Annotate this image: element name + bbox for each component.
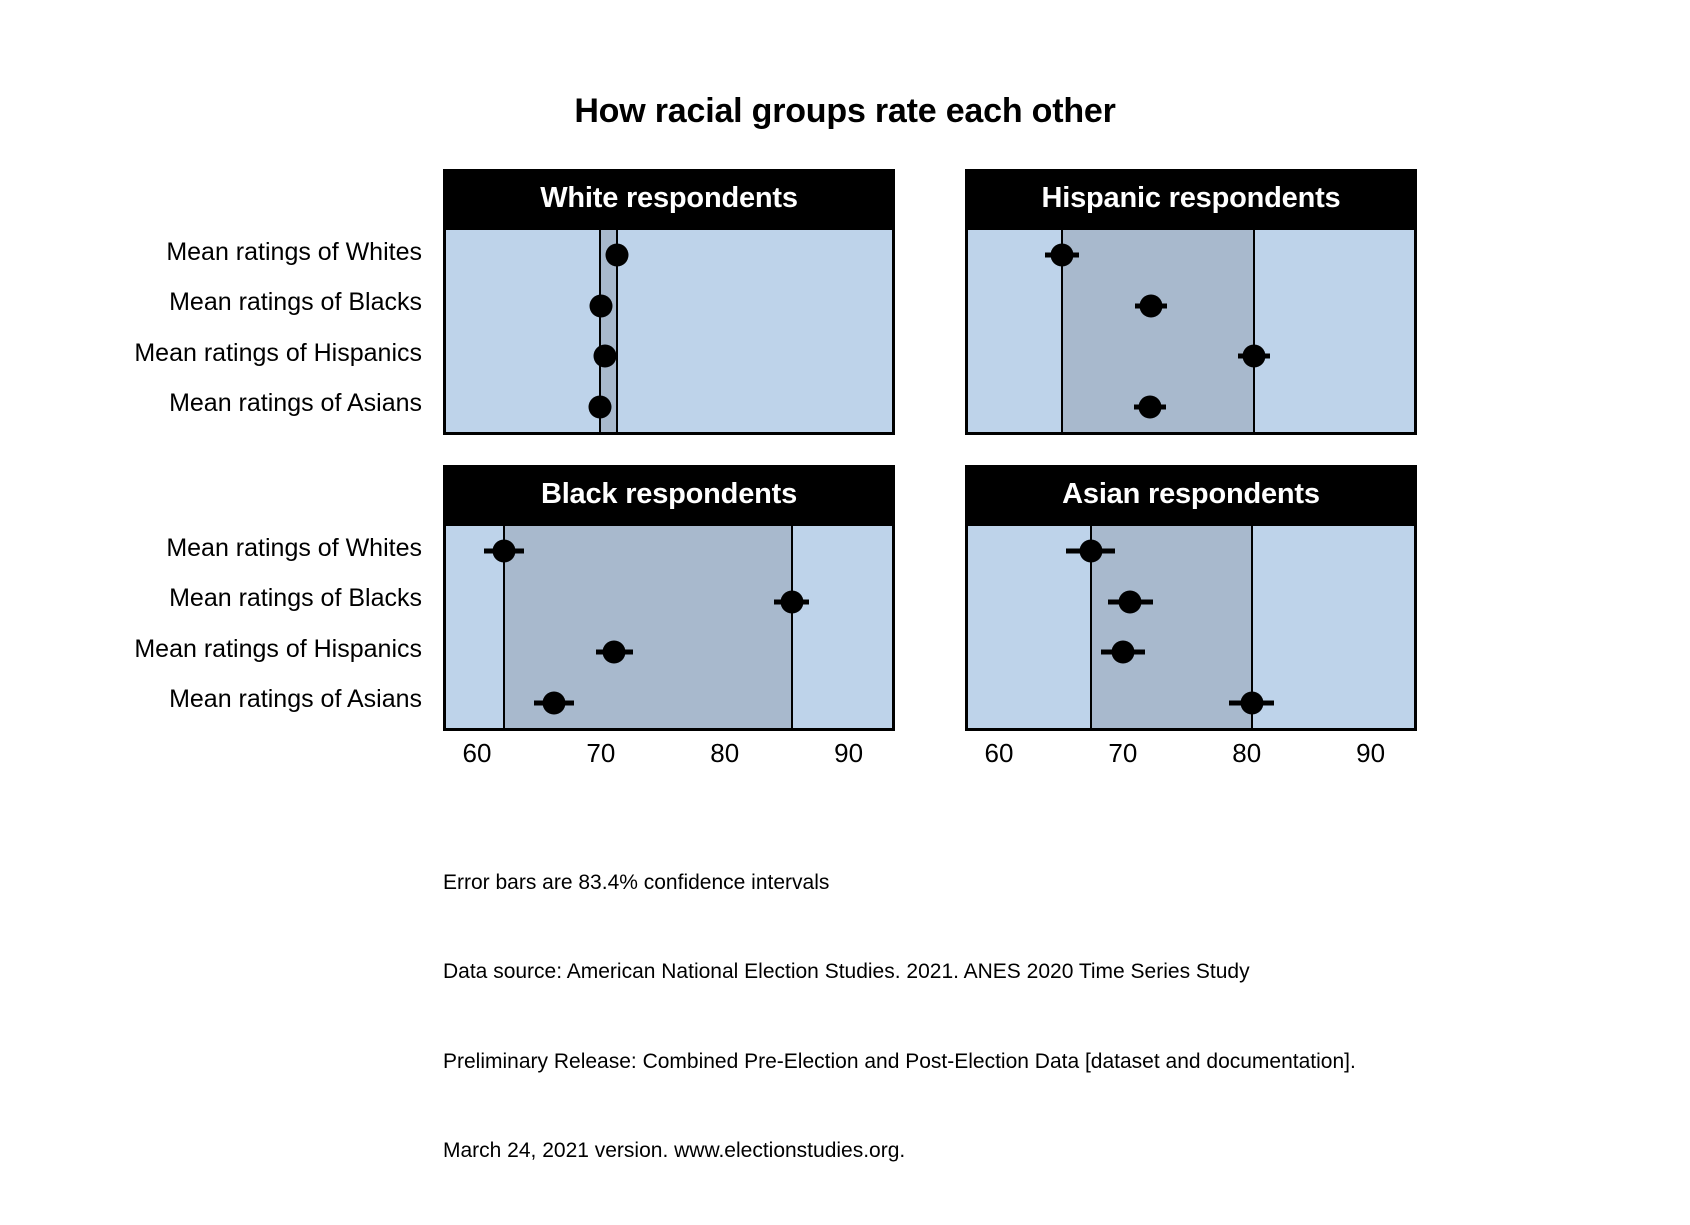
x-axis-tick-label: 60 bbox=[985, 738, 1014, 769]
data-point bbox=[780, 590, 803, 613]
data-point bbox=[493, 540, 516, 563]
panel-plot-area-3 bbox=[965, 523, 1417, 731]
footer-line-2: Data source: American National Election … bbox=[443, 957, 1356, 987]
panel-strip-0: White respondents bbox=[443, 169, 895, 227]
panel-strip-3: Asian respondents bbox=[965, 465, 1417, 523]
panel-plot-area-2 bbox=[443, 523, 895, 731]
data-row bbox=[968, 627, 1414, 678]
panel-top-right: Hispanic respondents bbox=[965, 169, 1417, 435]
data-point bbox=[603, 641, 626, 664]
panel-bottom-left: Black respondents bbox=[443, 465, 895, 731]
y-axis-label: Mean ratings of Hispanics bbox=[134, 328, 422, 379]
data-row bbox=[968, 382, 1414, 433]
data-point bbox=[1240, 691, 1263, 714]
x-axis-tick-label: 80 bbox=[710, 738, 739, 769]
data-point bbox=[605, 244, 628, 267]
data-point bbox=[542, 691, 565, 714]
footer-line-4: March 24, 2021 version. www.electionstud… bbox=[443, 1136, 1356, 1166]
page-title: How racial groups rate each other bbox=[0, 92, 1690, 131]
y-axis-label: Mean ratings of Asians bbox=[169, 379, 422, 430]
y-axis-label: Mean ratings of Whites bbox=[166, 523, 422, 574]
y-axis-label: Mean ratings of Hispanics bbox=[134, 624, 422, 675]
data-point bbox=[589, 294, 612, 317]
data-row bbox=[446, 526, 892, 577]
panel-bottom-right: Asian respondents bbox=[965, 465, 1417, 731]
y-axis-label: Mean ratings of Blacks bbox=[169, 278, 422, 329]
y-axis-label: Mean ratings of Asians bbox=[169, 675, 422, 726]
x-axis-right: 60708090 bbox=[965, 738, 1417, 782]
x-axis-tick-label: 90 bbox=[834, 738, 863, 769]
data-point bbox=[1079, 540, 1102, 563]
data-row bbox=[968, 678, 1414, 729]
data-point bbox=[1111, 641, 1134, 664]
panel-strip-1: Hispanic respondents bbox=[965, 169, 1417, 227]
panel-top-left: White respondents bbox=[443, 169, 895, 435]
data-row bbox=[968, 281, 1414, 332]
panel-strip-label: White respondents bbox=[540, 184, 798, 213]
data-row bbox=[446, 678, 892, 729]
x-axis-tick-label: 70 bbox=[586, 738, 615, 769]
data-point bbox=[1119, 590, 1142, 613]
y-axis-label: Mean ratings of Blacks bbox=[169, 574, 422, 625]
x-axis-tick-label: 70 bbox=[1108, 738, 1137, 769]
data-row bbox=[446, 230, 892, 281]
x-axis-tick-label: 80 bbox=[1232, 738, 1261, 769]
chart-figure: How racial groups rate each other Mean r… bbox=[0, 0, 1690, 1086]
data-row bbox=[968, 526, 1414, 577]
panel-plot-area-0 bbox=[443, 227, 895, 435]
x-axis-left: 60708090 bbox=[443, 738, 895, 782]
data-point bbox=[1243, 345, 1266, 368]
data-row bbox=[446, 281, 892, 332]
data-point bbox=[1139, 395, 1162, 418]
footer-line-1: Error bars are 83.4% confidence interval… bbox=[443, 868, 1356, 898]
data-row bbox=[446, 382, 892, 433]
y-axis-label: Mean ratings of Whites bbox=[166, 227, 422, 278]
data-row bbox=[968, 230, 1414, 281]
footer-line-3: Preliminary Release: Combined Pre-Electi… bbox=[443, 1047, 1356, 1077]
data-row bbox=[968, 577, 1414, 628]
panel-plot-area-1 bbox=[965, 227, 1417, 435]
data-point bbox=[593, 345, 616, 368]
data-point bbox=[588, 395, 611, 418]
panel-strip-label: Asian respondents bbox=[1062, 480, 1320, 509]
data-row bbox=[446, 331, 892, 382]
data-row bbox=[446, 627, 892, 678]
y-axis-labels-top: Mean ratings of WhitesMean ratings of Bl… bbox=[0, 227, 432, 435]
x-axis-tick-label: 90 bbox=[1356, 738, 1385, 769]
y-axis-labels-bottom: Mean ratings of WhitesMean ratings of Bl… bbox=[0, 523, 432, 731]
data-row bbox=[968, 331, 1414, 382]
data-point bbox=[1140, 294, 1163, 317]
panel-strip-label: Hispanic respondents bbox=[1042, 184, 1341, 213]
panel-strip-2: Black respondents bbox=[443, 465, 895, 523]
x-axis-tick-label: 60 bbox=[463, 738, 492, 769]
panel-strip-label: Black respondents bbox=[541, 480, 797, 509]
data-row bbox=[446, 577, 892, 628]
footer-caption: Error bars are 83.4% confidence interval… bbox=[443, 808, 1356, 1225]
data-point bbox=[1051, 244, 1074, 267]
